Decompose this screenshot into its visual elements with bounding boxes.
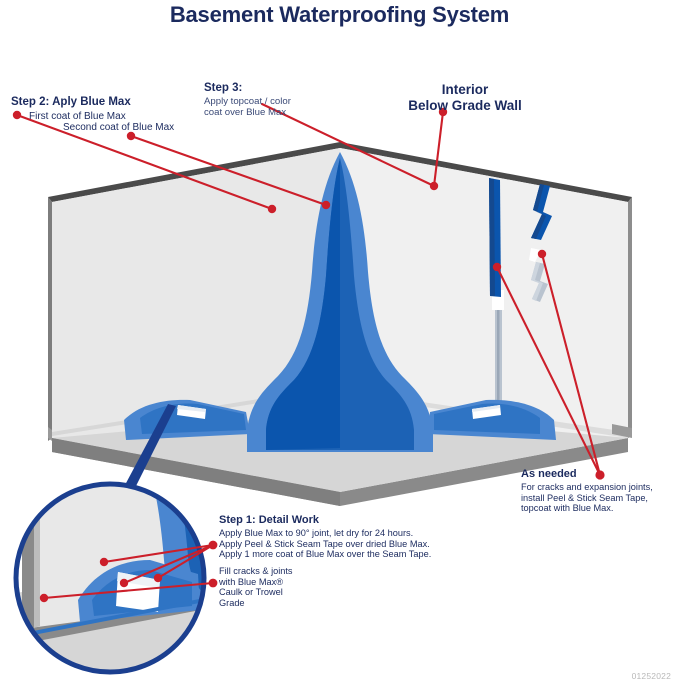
as-needed-line1: For cracks and expansion joints,	[521, 482, 653, 492]
step3-dot	[268, 205, 276, 213]
fill-cracks-line2: with Blue Max®	[219, 577, 283, 587]
step2-heading: Step 2: Aply Blue Max	[11, 96, 131, 109]
detail-target-dot-d	[40, 594, 48, 602]
as-needed-dot	[595, 470, 604, 479]
interior-target-dot	[430, 182, 438, 190]
joint-dot	[493, 263, 501, 271]
detail-target-dot-a	[100, 558, 108, 566]
step1-line1: Apply Blue Max to 90° joint, let dry for…	[219, 528, 413, 538]
step3-line1: Apply topcoat / color	[204, 96, 291, 107]
page-title: Basement Waterproofing System	[0, 2, 679, 28]
as-needed-body: For cracks and expansion joints,install …	[521, 482, 653, 514]
interior-label: InteriorBelow Grade Wall	[380, 82, 550, 113]
diagram-canvas: Basement Waterproofing System Step 2: Ap…	[0, 0, 679, 687]
step2-line1: First coat of Blue Max	[29, 111, 126, 123]
step1-heading: Step 1: Detail Work	[219, 514, 319, 527]
as-needed-line3: topcoat with Blue Max.	[521, 503, 613, 513]
step2-first-coat-dot	[13, 111, 21, 119]
fill-cracks-body: Fill cracks & jointswith Blue Max®Caulk …	[219, 566, 293, 609]
step1-line3: Apply 1 more coat of Blue Max over the S…	[219, 549, 431, 559]
fill-cracks-line1: Fill cracks & joints	[219, 566, 293, 576]
step2b-target-dot	[322, 201, 330, 209]
step1-dot	[209, 541, 218, 550]
date-stamp: 01252022	[632, 671, 671, 681]
step3-body: Apply topcoat / colorcoat over Blue Max	[204, 96, 291, 118]
detail-target-dot-c	[154, 574, 162, 582]
step2-line2: Second coat of Blue Max	[63, 122, 174, 134]
fill-cracks-line4: Grade	[219, 598, 245, 608]
detail-target-dot-b	[120, 579, 128, 587]
step1-body: Apply Blue Max to 90° joint, let dry for…	[219, 528, 431, 560]
as-needed-heading: As needed	[521, 468, 577, 481]
interior-line1: Interior	[442, 82, 489, 97]
step1-line2: Apply Peel & Stick Seam Tape over dried …	[219, 539, 430, 549]
step3-line2: coat over Blue Max	[204, 107, 286, 118]
step3-heading: Step 3:	[204, 82, 242, 95]
crack-dot	[538, 250, 546, 258]
fill-cracks-dot	[209, 579, 218, 588]
as-needed-line2: install Peel & Stick Seam Tape,	[521, 493, 648, 503]
fill-cracks-line3: Caulk or Trowel	[219, 587, 283, 597]
interior-line2: Below Grade Wall	[408, 98, 522, 113]
